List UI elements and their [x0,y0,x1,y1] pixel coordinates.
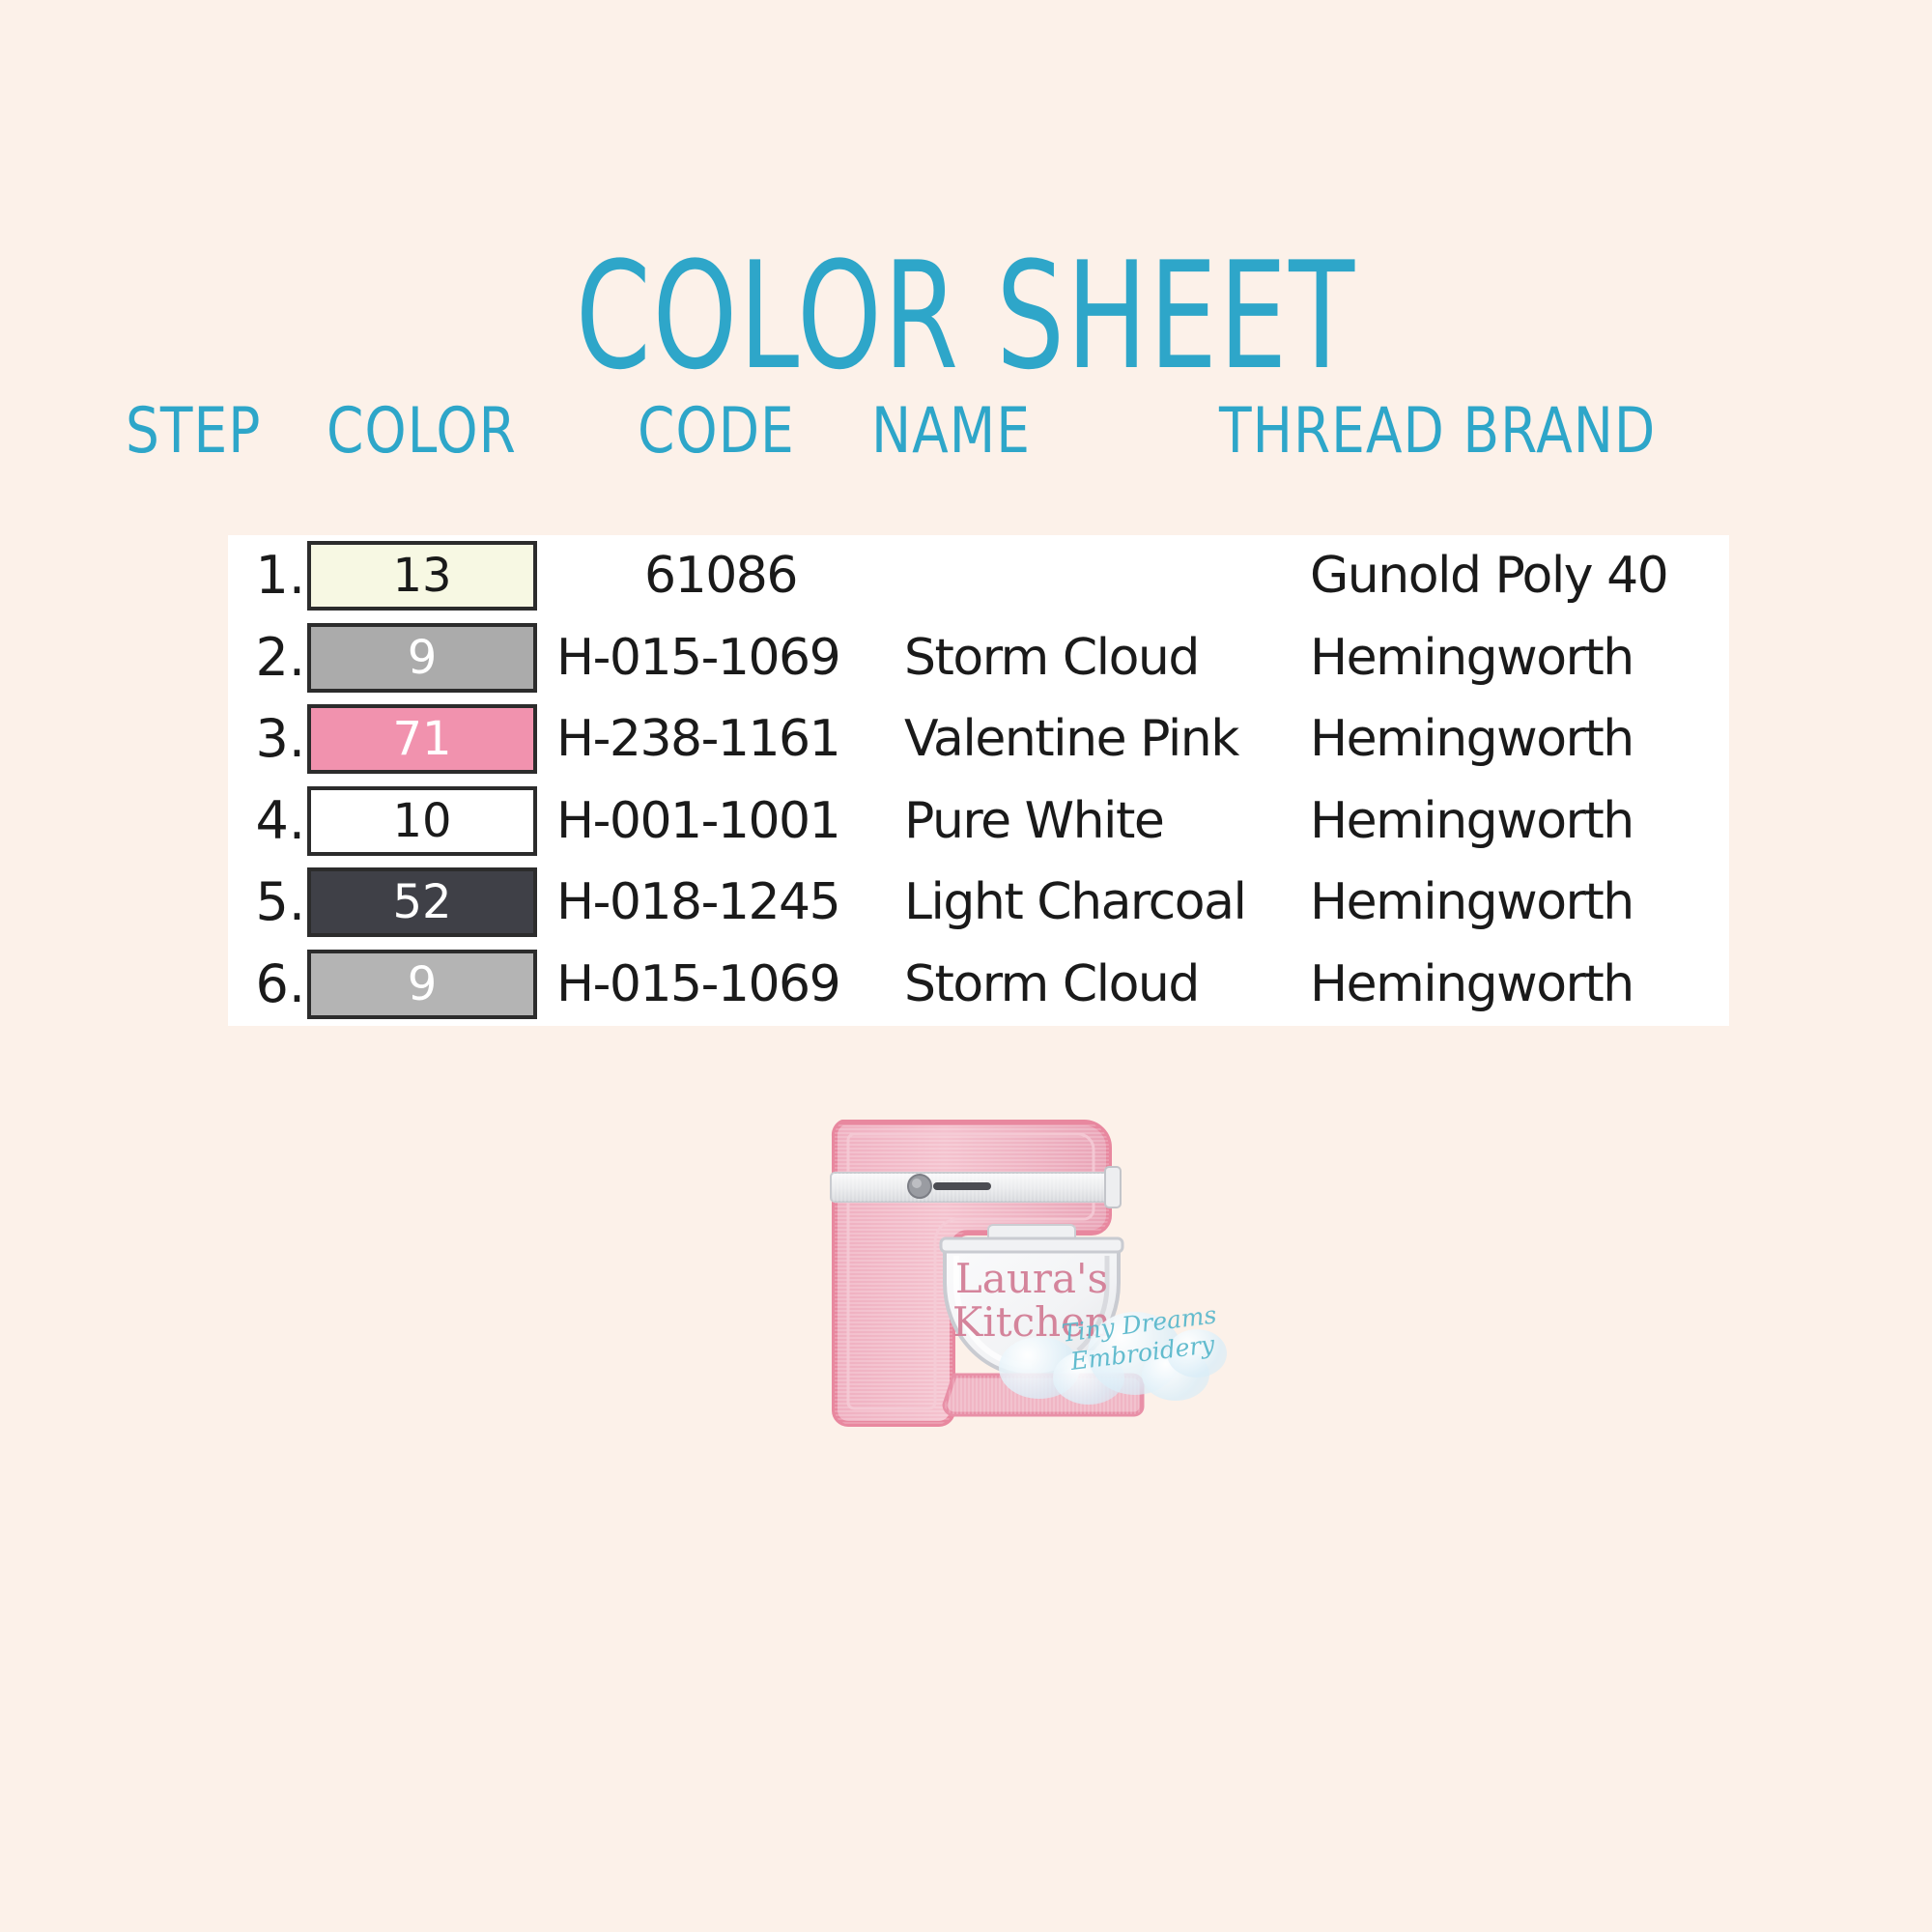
row-step-number: 1. [228,535,305,617]
table-row: 6.9H-015-1069Storm CloudHemingworth [228,944,1729,1026]
column-header-brand: THREAD BRAND [1219,394,1656,468]
swatch-number: 71 [392,716,451,762]
row-thread-name: Storm Cloud [904,617,1310,699]
color-swatch: 9 [307,950,537,1019]
row-thread-name [904,535,1310,617]
table-row: 1.1361086Gunold Poly 40 [228,535,1729,617]
color-swatch: 13 [307,541,537,611]
color-swatch: 71 [307,704,537,774]
thread-color-table: 1.1361086Gunold Poly 402.9H-015-1069Stor… [228,535,1729,1026]
row-thread-code: H-018-1245 [556,862,885,944]
row-thread-code: H-015-1069 [556,944,885,1026]
row-thread-brand: Hemingworth [1310,862,1729,944]
row-thread-brand: Gunold Poly 40 [1310,535,1729,617]
row-step-number: 6. [228,944,305,1026]
stand-mixer-embroidery-design: Laura's Kitchen Tiny Dreams Embroidery [810,1109,1242,1445]
row-thread-brand: Hemingworth [1310,617,1729,699]
row-thread-name: Light Charcoal [904,862,1310,944]
row-thread-code: 61086 [556,535,885,617]
stand-mixer-icon: Laura's Kitchen [810,1109,1242,1445]
page-title: COLOR SHEET [39,243,1893,391]
row-thread-brand: Hemingworth [1310,698,1729,781]
row-thread-code: H-001-1001 [556,781,885,863]
swatch-number: 9 [408,635,438,681]
row-step-number: 4. [228,781,305,863]
row-thread-code: H-238-1161 [556,698,885,781]
table-row: 5.52H-018-1245Light CharcoalHemingworth [228,862,1729,944]
swatch-number: 10 [392,798,451,844]
color-sheet-page: COLOR SHEET STEP COLOR CODE NAME THREAD … [0,0,1932,1932]
row-thread-code: H-015-1069 [556,617,885,699]
table-row: 3.71H-238-1161Valentine PinkHemingworth [228,698,1729,781]
column-header-step: STEP [126,394,261,468]
column-header-row: STEP COLOR CODE NAME THREAD BRAND [126,394,1806,458]
row-step-number: 2. [228,617,305,699]
column-header-color: COLOR [327,394,517,468]
table-row: 2.9H-015-1069Storm CloudHemingworth [228,617,1729,699]
row-thread-brand: Hemingworth [1310,944,1729,1026]
color-swatch: 10 [307,786,537,856]
row-step-number: 5. [228,862,305,944]
swatch-number: 52 [392,879,451,925]
bowl-text-line1: Laura's [955,1255,1108,1302]
swatch-number: 13 [392,553,451,599]
color-swatch: 52 [307,867,537,937]
row-thread-name: Storm Cloud [904,944,1310,1026]
row-thread-name: Valentine Pink [904,698,1310,781]
column-header-code: CODE [638,394,795,468]
column-header-name: NAME [871,394,1031,468]
color-swatch: 9 [307,623,537,693]
row-thread-brand: Hemingworth [1310,781,1729,863]
table-row: 4.10H-001-1001Pure WhiteHemingworth [228,781,1729,863]
row-thread-name: Pure White [904,781,1310,863]
swatch-number: 9 [408,961,438,1008]
row-step-number: 3. [228,698,305,781]
